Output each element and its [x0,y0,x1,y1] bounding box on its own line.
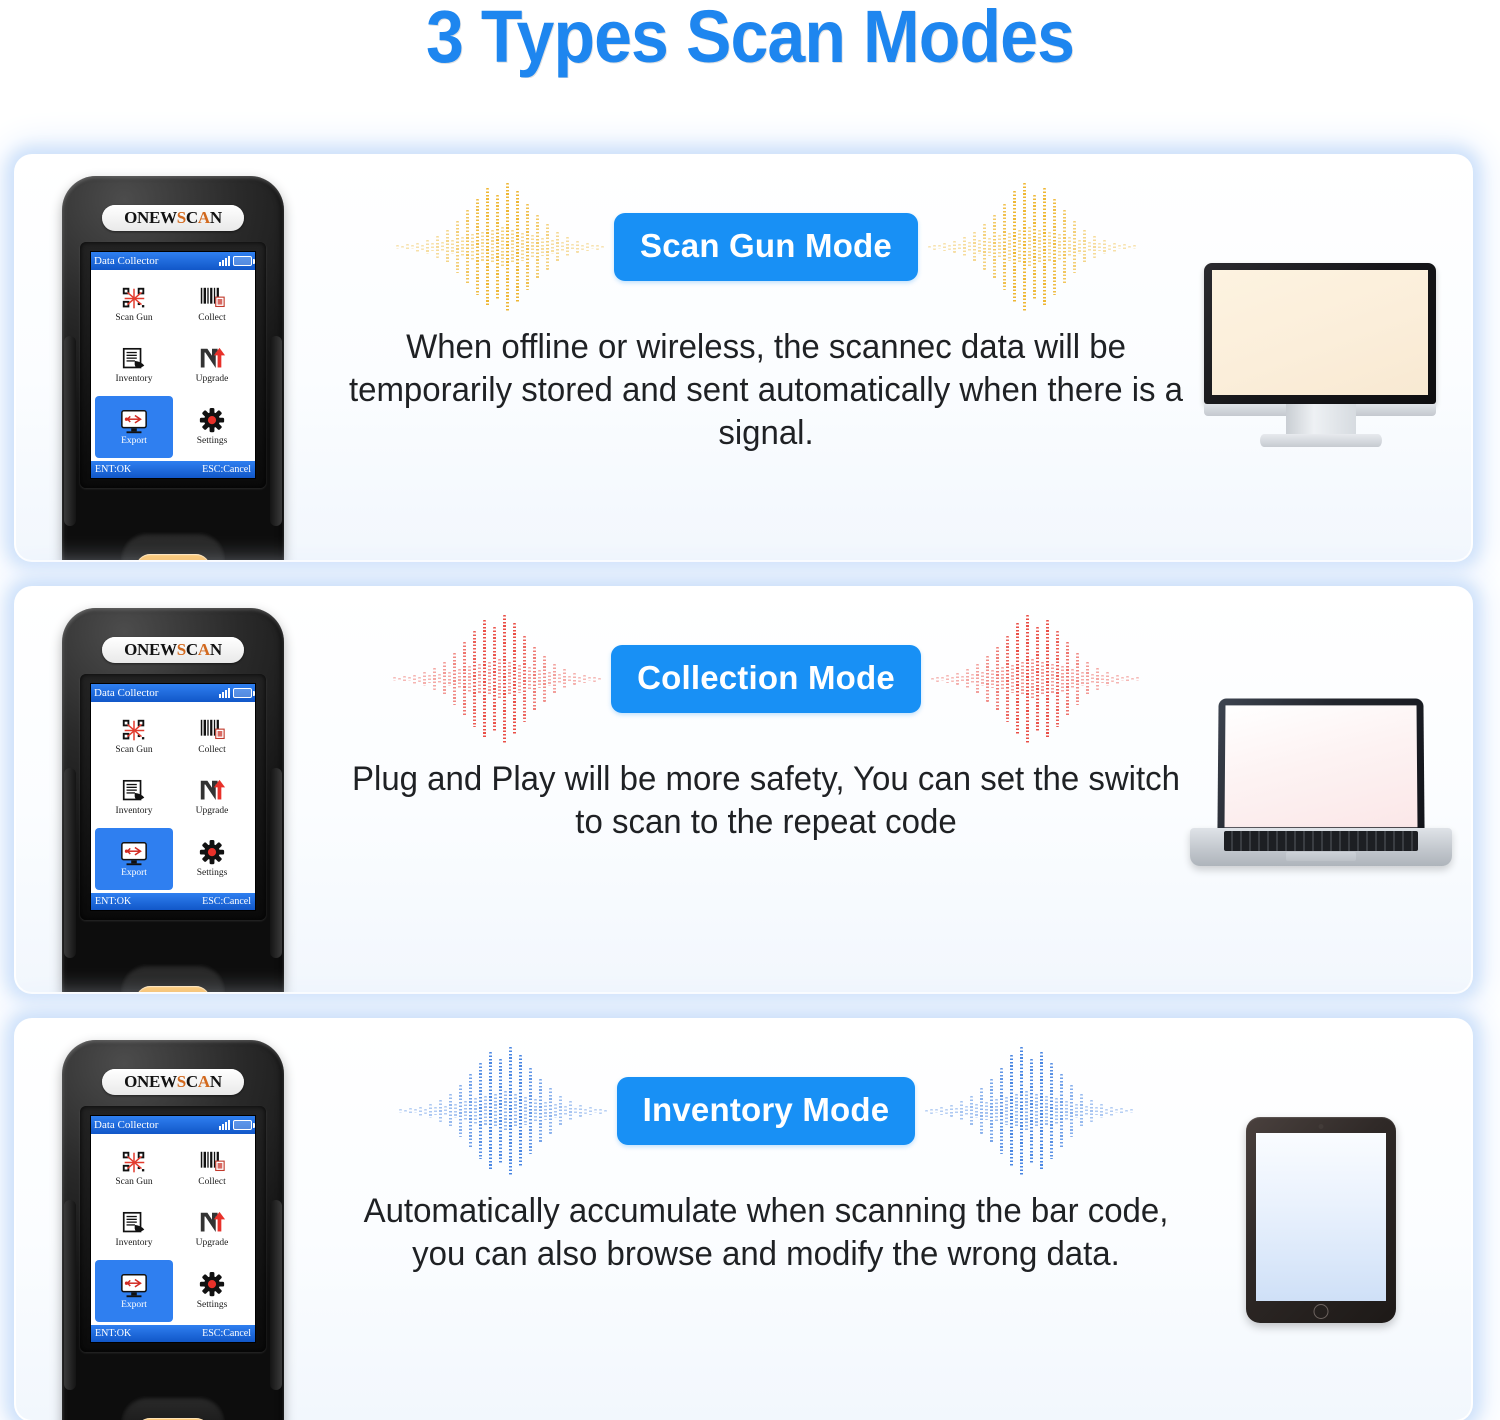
waveform-bar [956,673,959,685]
barcode-collect-icon [197,717,227,745]
lcd-menu-item-collect[interactable]: Collect [173,1137,251,1199]
waveform-bar [531,235,534,259]
lcd-menu-item-inventory[interactable]: Inventory [95,1199,173,1261]
mode-description-collection: Plug and Play will be more safety, You c… [349,758,1183,844]
waveform-bar [451,240,454,254]
waveform-bar [1020,1047,1023,1175]
lcd-footer-ok: ENT:OK [95,896,131,907]
waveform-bar [469,1074,472,1148]
battery-icon [233,688,252,698]
device-trigger-well [121,1396,225,1420]
waveform-bar [1078,240,1081,254]
lcd-menu-label: Scan Gun [115,314,152,324]
waveform-right [899,1036,1159,1186]
waveform-bar [1003,204,1006,290]
device-grip-right [270,1200,282,1390]
mode-badge-collection[interactable]: Collection Mode [611,645,921,713]
lcd-menu-label: Settings [197,437,228,447]
waveform-bar [1053,199,1056,295]
lcd-status-area [219,688,252,698]
waveform-bar [598,678,601,681]
waveform-bar [1115,1109,1118,1113]
waveform-bar [1116,675,1119,684]
waveform-bar [928,246,931,249]
device-trigger-well [121,532,225,560]
lcd-menu-label: Upgrade [196,375,229,385]
waveform-bar [479,1063,482,1159]
signal-bars-icon [219,256,230,266]
waveform-bar [434,1107,437,1115]
waveform-bar [1006,636,1009,722]
waveform-bar [998,235,1001,259]
waveform-bar [1136,677,1139,681]
waveform-bar [948,245,951,250]
document-hand-icon [119,346,149,374]
waveform-bar [601,246,604,249]
barcode-scanner-device: ONEWSCAN Data Collector [54,176,294,560]
device-grip-right [270,336,282,526]
monitor-neck [1286,404,1356,436]
waveform-bar [536,215,539,279]
lcd-footer: ENT:OK ESC:Cancel [91,461,255,478]
monitor-screen-surface [1212,270,1428,395]
lcd-footer-ok: ENT:OK [95,464,131,475]
device-grip-left [64,336,76,526]
device-brand-logo: ONEWSCAN [102,637,244,663]
lcd-menu-item-settings[interactable]: Settings [173,828,251,890]
waveform-bar [474,1098,477,1124]
waveform-bar [1075,1104,1078,1118]
waveform-bar [429,1104,432,1118]
waveform-bar [1005,1097,1008,1125]
waveform-bar [1086,662,1089,696]
device-body: ONEWSCAN Data Collector [62,608,284,992]
mode-badge-inventory[interactable]: Inventory Mode [617,1077,916,1145]
waveform-bar [951,677,954,682]
waveform-bar [596,245,599,250]
waveform-bar [488,662,491,696]
device-grip-right [270,768,282,958]
waveform-bar [925,1110,928,1113]
waveform-bar [1131,678,1134,681]
waveform-bar [1026,615,1029,743]
waveform-right [905,604,1165,754]
lcd-menu-label: Inventory [116,807,153,817]
waveform-bar [988,238,991,256]
lcd-menu-grid: Scan Gun [91,270,255,461]
waveform-bar [1001,667,1004,691]
barcode-scanner-device: ONEWSCAN Data Collector [54,608,294,992]
waveform-bar [513,623,516,735]
waveform-bar [1056,631,1059,727]
waveform-bar [1128,246,1131,249]
waveform-bar [941,677,944,681]
waveform-bar [466,210,469,284]
waveform-bar [604,1110,607,1113]
device-grip-left [64,1200,76,1390]
waveform-bar [1123,244,1126,250]
waveform-bar [1043,188,1046,306]
qr-code-scan-icon [119,285,149,313]
upgrade-arrow-n-icon [197,346,227,374]
waveform-bar [593,677,596,682]
waveform-bar [421,245,424,250]
waveform-left [367,604,627,754]
waveform-bar [936,677,939,682]
waveform-bar [483,620,486,738]
waveform-bar [501,227,504,267]
waveform-bar [1021,662,1024,696]
barcode-collect-icon [197,285,227,313]
waveform-bar [418,677,421,682]
waveform-bar [960,1101,963,1121]
device-brand-logo-text: ONEWSCAN [124,1072,222,1092]
waveform-bar [438,674,441,684]
lcd-status-area [219,1120,252,1130]
waveform-bar [1070,1085,1073,1137]
waveform-bar [404,1110,407,1113]
lcd-menu-item-upgrade[interactable]: Upgrade [173,1199,251,1261]
waveform-bar [1031,659,1034,699]
waveform-bar [459,1085,462,1137]
waveform-bar [1023,183,1026,311]
waveform-bar [931,678,934,681]
device-body: ONEWSCAN Data Collector [62,1040,284,1420]
waveform-bar [1096,668,1099,690]
waveform-bar [1133,245,1136,249]
waveform-bar [399,1109,402,1113]
waveform-bar [568,676,571,683]
device-brand-logo: ONEWSCAN [102,205,244,231]
device-lcd-screen: Data Collector [90,251,256,479]
mode-badge-scan-gun[interactable]: Scan Gun Mode [614,213,918,281]
waveform-bar [1008,233,1011,261]
waveform-bar [573,673,576,685]
waveform-bar [1113,243,1116,252]
mode-panel-collection: ONEWSCAN Data Collector [16,588,1471,992]
lcd-menu-item-export[interactable]: Export [95,396,173,458]
waveform-bar [464,1101,467,1121]
waveform-bar [1035,1094,1038,1128]
waveform-bar [981,672,984,686]
waveform-bar [426,240,429,254]
waveform-bar [986,656,989,702]
waveform-bar [571,244,574,251]
waveform-bar [991,670,994,688]
waveform-bar [419,1107,422,1116]
waveform-bar [424,1109,427,1114]
waveform-bar [456,221,459,273]
target-device-tablet [1171,1020,1471,1420]
waveform-bar [1013,191,1016,303]
waveform-bar [576,241,579,253]
waveform-bar [1068,237,1071,257]
waveform-bar [496,195,499,299]
lcd-footer: ENT:OK ESC:Cancel [91,893,255,910]
waveform-row: Scan Gun Mode [316,172,1216,322]
waveform-bar [409,1108,412,1114]
tablet-home-button[interactable] [1314,1304,1329,1319]
waveform-bar [508,662,511,696]
waveform-bar [584,1109,587,1114]
device-trigger-well [121,964,225,992]
waveform-bar [933,245,936,250]
waveform-bar [1076,653,1079,705]
waveform-bar [533,647,536,711]
waveform-left [373,1036,633,1186]
lcd-title: Data Collector [94,1119,158,1131]
waveform-bar [454,1104,457,1118]
waveform-bar [504,1091,507,1131]
waveform-bar [569,1101,572,1121]
waveform-right [902,172,1162,322]
waveform-bar [976,664,979,694]
lcd-menu-label: Upgrade [196,1239,229,1249]
waveform-bar [588,677,591,681]
waveform-bar [461,237,464,257]
waveform-bar [548,672,551,686]
lcd-menu-item-export[interactable]: Export [95,828,173,890]
waveform-bar [401,246,404,249]
desktop-monitor [1196,263,1446,453]
lcd-menu-label: Collect [198,314,225,324]
usb-monitor-export-icon [119,1272,149,1300]
lcd-title: Data Collector [94,255,158,267]
device-brand-logo-text: ONEWSCAN [124,208,222,228]
waveform-bar [938,245,941,249]
waveform-bar [993,215,996,279]
monitor-base [1260,434,1382,447]
barcode-scanner-device: ONEWSCAN Data Collector [54,1040,294,1420]
waveform-bar [1045,1096,1048,1126]
waveform-bar [446,230,449,264]
waveform-bar [476,199,479,295]
lcd-menu-label: Settings [197,1301,228,1311]
waveform-bar [943,243,946,251]
lcd-menu-grid: Scan Gun [91,702,255,893]
waveform-bar [546,224,549,270]
waveform-bar [1093,236,1096,258]
battery-icon [233,1120,252,1130]
waveform-bar [503,615,506,743]
waveform-bar [1028,227,1031,267]
document-hand-icon [119,778,149,806]
waveform-bar [444,1106,447,1116]
lcd-menu-label: Export [121,1301,147,1311]
waveform-bar [448,672,451,686]
waveform-bar [995,1099,998,1123]
waveform-bar [1085,1106,1088,1116]
waveform-bar [1106,672,1109,686]
waveform-bar [968,242,971,252]
waveform-bar [494,1094,497,1128]
lcd-menu-grid: Scan Gun [91,1134,255,1325]
mode-description-scan-gun: When offline or wireless, the scannec da… [349,326,1183,454]
waveform-bar [453,653,456,705]
lcd-title: Data Collector [94,687,158,699]
waveform-bar [553,664,556,694]
lcd-menu-item-settings[interactable]: Settings [173,1260,251,1322]
waveform-bar [541,238,544,256]
laptop-keyboard [1224,831,1418,851]
lcd-menu-label: Collect [198,1178,225,1188]
device-lcd-bezel: Data Collector [80,242,266,488]
monitor-bezel [1204,263,1436,404]
waveform-bar [561,242,564,252]
waveform-bar [518,665,521,693]
lcd-menu-item-collect[interactable]: Collect [173,705,251,767]
waveform-row: Inventory Mode [316,1036,1216,1186]
waveform-bar [970,1096,973,1126]
waveform-bar [484,1096,487,1126]
lcd-menu-item-scan-gun[interactable]: Scan Gun [95,705,173,767]
waveform-bar [486,188,489,306]
scan-trigger-button[interactable] [136,986,210,992]
waveform-bar [930,1109,933,1114]
waveform-bar [398,678,401,681]
waveform-bar [463,642,466,716]
device-brand-logo-text: ONEWSCAN [124,640,222,660]
lcd-menu-item-upgrade[interactable]: Upgrade [173,767,251,829]
waveform-bar [579,1105,582,1117]
waveform-bar [556,232,559,262]
waveform-bar [589,1107,592,1115]
lcd-menu-item-collect[interactable]: Collect [173,273,251,335]
device-grip-left [64,768,76,958]
waveform-bar [416,243,419,252]
waveform-bar [1010,1055,1013,1167]
waveform-bar [965,1106,968,1116]
waveform-row: Collection Mode [316,604,1216,754]
waveform-bar [1118,245,1121,249]
waveform-bar [411,245,414,249]
lcd-menu-item-export[interactable]: Export [95,1260,173,1322]
lcd-footer-cancel: ESC:Cancel [202,464,251,475]
waveform-bar [436,236,439,258]
waveform-bar [539,1079,542,1143]
waveform-bar [1121,677,1124,681]
waveform-bar [581,245,584,250]
mode-description-inventory: Automatically accumulate when scanning t… [349,1190,1183,1276]
lcd-menu-label: Export [121,437,147,447]
lcd-menu-item-scan-gun[interactable]: Scan Gun [95,273,173,335]
qr-code-scan-icon [119,1149,149,1177]
device-lcd-screen: Data Collector [90,683,256,911]
waveform-bar [489,1052,492,1170]
waveform-bar [1011,665,1014,693]
waveform-bar [955,1108,958,1115]
waveform-bar [396,245,399,249]
waveform-bar [586,243,589,251]
lcd-menu-item-settings[interactable]: Settings [173,396,251,458]
waveform-bar [538,670,541,688]
waveform-bar [1088,242,1091,252]
waveform-bar [529,1068,532,1154]
document-hand-icon [119,1210,149,1238]
lcd-menu-item-inventory[interactable]: Inventory [95,335,173,397]
target-device-laptop [1171,588,1471,992]
waveform-bar [449,1094,452,1128]
waveform-bar [1040,1052,1043,1170]
lcd-titlebar: Data Collector [91,684,255,702]
scan-trigger-button[interactable] [136,554,210,560]
waveform-bar [509,1047,512,1175]
laptop-lid [1217,698,1424,832]
waveform-bar [481,232,484,262]
waveform-bar [1046,620,1049,738]
waveform-bar [1038,230,1041,264]
waveform-bar [403,676,406,682]
waveform-bar [549,1088,552,1134]
lcd-menu-item-upgrade[interactable]: Upgrade [173,335,251,397]
waveform-bar [1051,664,1054,694]
device-body: ONEWSCAN Data Collector [62,176,284,560]
tablet-camera-icon [1319,1124,1324,1129]
waveform-bar [980,1088,983,1134]
gear-settings-icon [197,408,227,436]
waveform-bar [1060,1074,1063,1148]
waveform-bar [1025,1091,1028,1131]
lcd-menu-item-scan-gun[interactable]: Scan Gun [95,1137,173,1199]
waveform-bar [428,675,431,683]
waveform-bar [1081,672,1084,686]
target-device-monitor [1171,156,1471,560]
waveform-bar [566,237,569,257]
battery-icon [233,256,252,266]
laptop-trackpad [1286,852,1356,861]
lcd-menu-label: Upgrade [196,807,229,817]
mode-content-scan-gun: Scan Gun Mode When offline or wireless, … [316,156,1216,560]
lcd-menu-item-inventory[interactable]: Inventory [95,767,173,829]
waveform-bar [1071,669,1074,689]
waveform-bar [516,191,519,303]
waveform-bar [996,647,999,711]
waveform-bar [554,1104,557,1118]
waveform-bar [1066,642,1069,716]
waveform-bar [441,242,444,252]
waveform-bar [1095,1107,1098,1115]
gear-settings-icon [197,840,227,868]
waveform-bar [990,1079,993,1143]
waveform-bar [963,237,966,257]
waveform-bar [393,677,396,681]
lcd-footer-cancel: ESC:Cancel [202,896,251,907]
waveform-bar [1126,676,1129,682]
waveform-bar [599,1109,602,1114]
lcd-menu-label: Collect [198,746,225,756]
waveform-bar [1103,240,1106,254]
lcd-footer-cancel: ESC:Cancel [202,1328,251,1339]
waveform-bar [526,204,529,290]
waveform-bar [946,675,949,683]
waveform-bar [1016,623,1019,735]
waveform-bar [940,1107,943,1115]
waveform-bar [408,677,411,681]
waveform-bar [945,1109,948,1114]
waveform-bar [534,1099,537,1123]
waveform-bar [491,230,494,264]
signal-bars-icon [219,1120,230,1130]
waveform-bar [1110,1107,1113,1116]
waveform-bar [1080,1094,1083,1128]
waveform-bar [514,1094,517,1128]
waveform-bar [478,664,481,694]
waveform-bar [1018,230,1021,264]
page-title: 3 Types Scan Modes [60,0,1440,79]
waveform-bar [1065,1101,1068,1121]
waveform-bar [958,244,961,251]
waveform-bar [950,1105,953,1117]
